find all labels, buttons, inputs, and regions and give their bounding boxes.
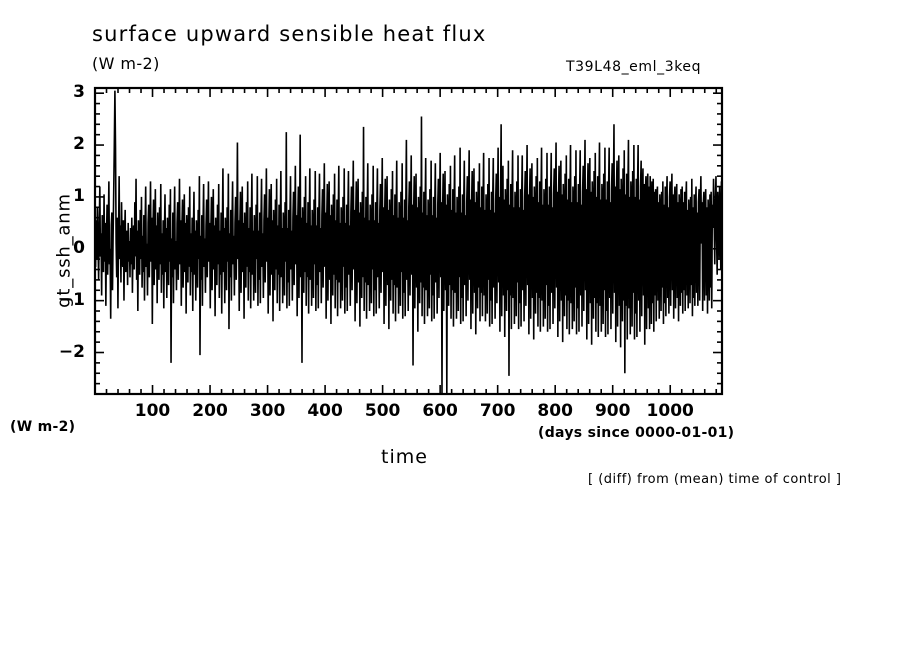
- data-series-line: [95, 91, 722, 394]
- x-tick-label: 400: [297, 401, 353, 421]
- x-tick-label: 300: [240, 401, 296, 421]
- x-tick-label: 200: [182, 401, 238, 421]
- y-tick-label: −1: [51, 290, 85, 310]
- x-tick-label: 1000: [642, 401, 698, 421]
- chart-canvas: surface upward sensible heat flux (W m-2…: [0, 0, 904, 654]
- y-tick-label: 1: [51, 186, 85, 206]
- y-tick-label: −2: [51, 342, 85, 362]
- y-tick-label: 3: [51, 82, 85, 102]
- x-tick-label: 700: [470, 401, 526, 421]
- x-tick-label: 100: [125, 401, 181, 421]
- plot-area: [0, 0, 904, 654]
- x-tick-label: 600: [412, 401, 468, 421]
- x-tick-label: 900: [585, 401, 641, 421]
- y-tick-label: 2: [51, 134, 85, 154]
- x-tick-label: 500: [355, 401, 411, 421]
- y-tick-label: 0: [51, 238, 85, 258]
- x-tick-label: 800: [527, 401, 583, 421]
